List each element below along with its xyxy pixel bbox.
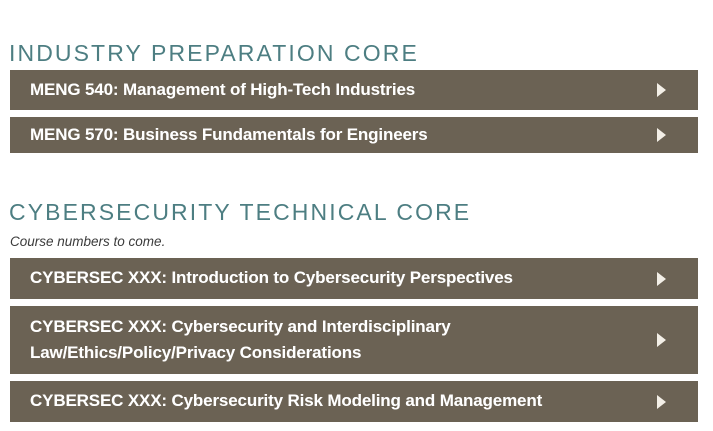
accordion-item-label: CYBERSEC XXX: Introduction to Cybersecur… <box>30 266 513 291</box>
section-heading-industry-preparation-core: INDUSTRY PREPARATION CORE <box>9 42 419 65</box>
accordion-item-label: MENG 540: Management of High-Tech Indust… <box>30 78 415 103</box>
course-accordion-page: INDUSTRY PREPARATION CORE MENG 540: Mana… <box>0 0 713 431</box>
accordion-item-label: MENG 570: Business Fundamentals for Engi… <box>30 123 428 148</box>
triangle-right-icon <box>657 272 666 286</box>
accordion-item-label: CYBERSEC XXX: Cybersecurity and Interdis… <box>30 314 451 367</box>
triangle-right-icon <box>657 395 666 409</box>
section-note: Course numbers to come. <box>10 234 165 250</box>
accordion-item-cybersec-introduction[interactable]: CYBERSEC XXX: Introduction to Cybersecur… <box>10 258 698 299</box>
triangle-right-icon <box>657 128 666 142</box>
triangle-right-icon <box>657 333 666 347</box>
accordion-item-cybersec-interdisciplinary[interactable]: CYBERSEC XXX: Cybersecurity and Interdis… <box>10 306 698 374</box>
accordion-item-meng-570[interactable]: MENG 570: Business Fundamentals for Engi… <box>10 117 698 153</box>
section-heading-cybersecurity-technical-core: CYBERSECURITY TECHNICAL CORE <box>9 201 471 224</box>
accordion-item-label: CYBERSEC XXX: Cybersecurity Risk Modelin… <box>30 389 542 414</box>
accordion-item-cybersec-risk-modeling[interactable]: CYBERSEC XXX: Cybersecurity Risk Modelin… <box>10 381 698 422</box>
triangle-right-icon <box>657 83 666 97</box>
accordion-item-meng-540[interactable]: MENG 540: Management of High-Tech Indust… <box>10 70 698 110</box>
